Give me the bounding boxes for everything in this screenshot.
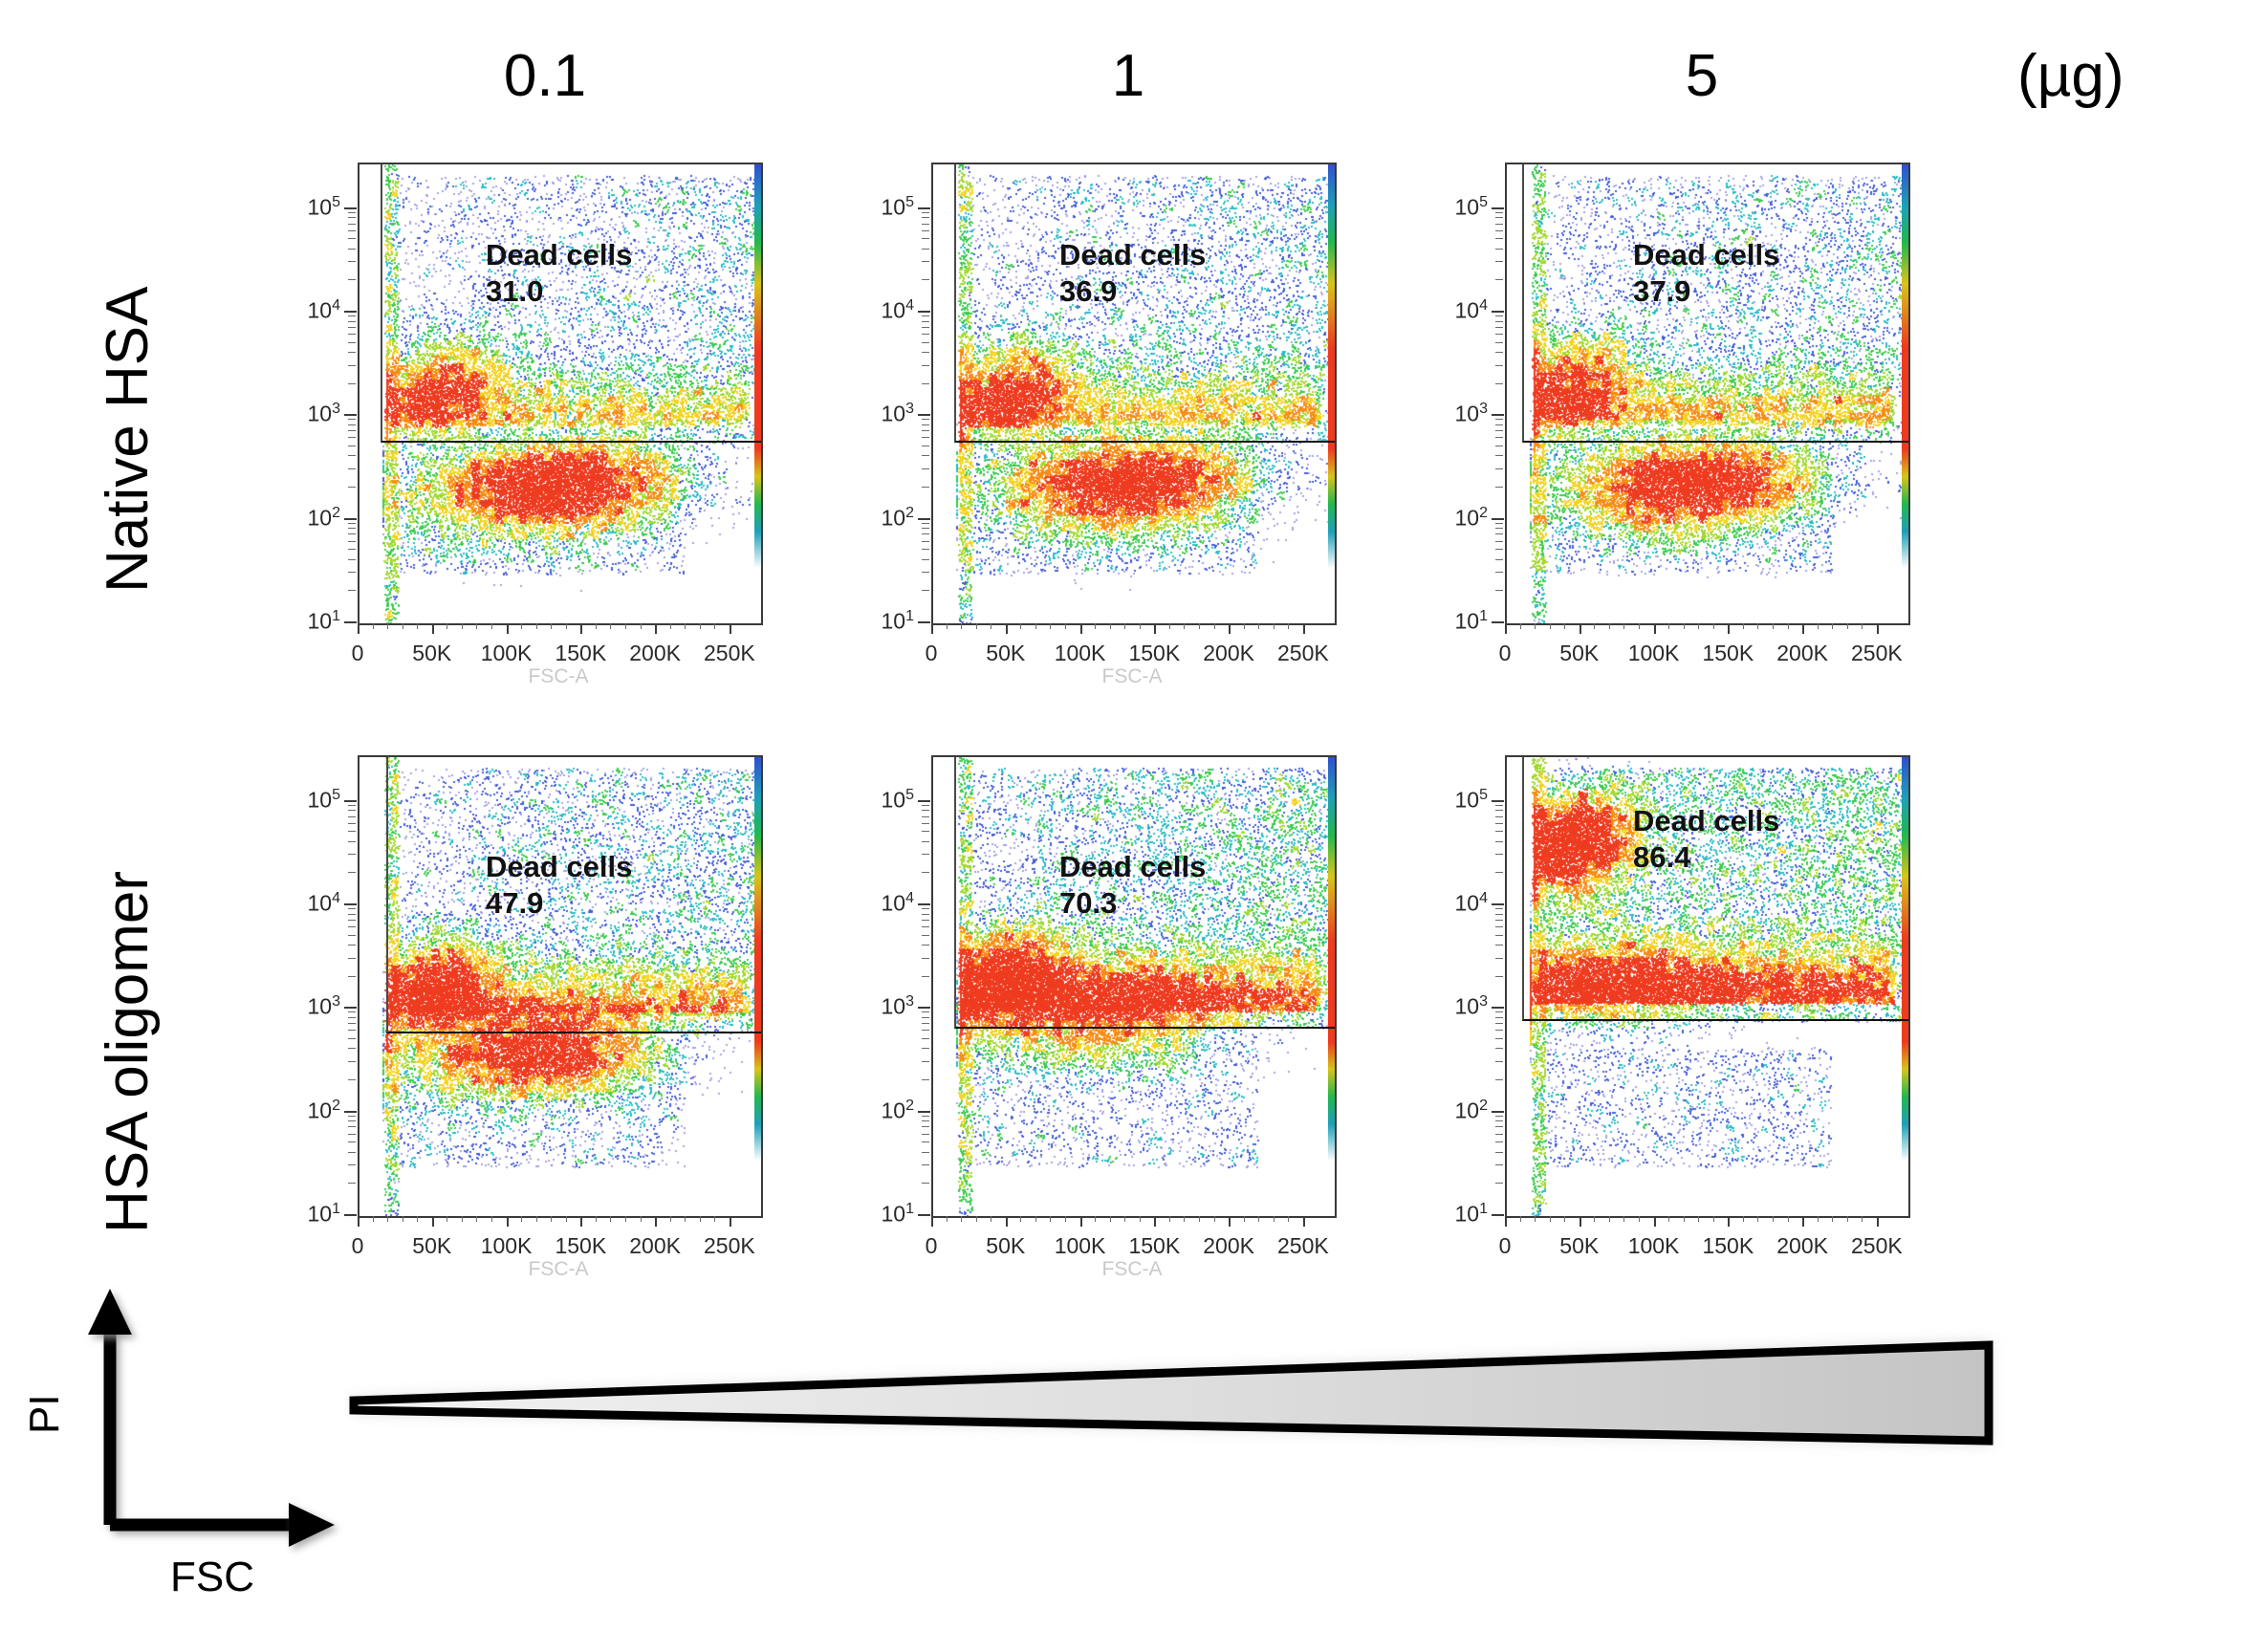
y-tick-minor (348, 1048, 356, 1049)
saturated-edge-strip (1328, 164, 1335, 623)
y-tick-minor (1495, 1164, 1503, 1165)
y-tick-label: 101 (1455, 609, 1489, 633)
gate-annotation: Dead cells36.9 (1059, 237, 1206, 310)
x-tick-minor (714, 623, 715, 629)
x-tick-minor (1110, 1216, 1111, 1222)
y-tick-minor (348, 352, 356, 353)
x-tick-minor (1550, 1216, 1551, 1222)
gate-annotation: Dead cells70.3 (1059, 849, 1206, 922)
row-label-hsa-oligomer: HSA oligomer (94, 871, 162, 1233)
y-tick-minor (1495, 365, 1503, 366)
dot-plot-panel: 105104103102101Dead cells86.4050K100K150… (1425, 755, 1941, 1291)
y-tick-minor (922, 914, 929, 915)
y-tick-minor (1495, 872, 1503, 873)
x-tick-minor (1050, 1216, 1051, 1222)
plot-frame: Dead cells36.9 (931, 163, 1337, 625)
y-tick-minor (1495, 528, 1503, 529)
x-tick-minor (387, 623, 388, 629)
saturated-edge-strip (754, 164, 761, 623)
x-tick-mark (1303, 623, 1305, 634)
y-tick-minor (922, 468, 929, 469)
x-tick-minor (417, 623, 418, 629)
y-tick-minor (922, 1030, 929, 1031)
y-tick-label: 103 (882, 402, 915, 425)
x-tick-mark (1006, 1216, 1008, 1227)
x-tick-label: 200K (1776, 1233, 1828, 1259)
y-axis: 105104103102101 (851, 755, 918, 1214)
x-tick-minor (1757, 623, 1758, 629)
x-tick-minor (625, 1216, 626, 1222)
x-tick-mark (1654, 623, 1656, 634)
x-tick-mark (1154, 1216, 1156, 1227)
y-tick-minor (922, 1079, 929, 1080)
y-tick-minor (1495, 419, 1503, 420)
y-axis: 105104103102101 (1425, 755, 1492, 1214)
y-tick-minor (1495, 572, 1503, 573)
y-tick-minor (348, 383, 356, 384)
y-tick-minor (922, 945, 929, 946)
y-tick-label: 101 (882, 1202, 915, 1226)
y-tick-label: 103 (1455, 994, 1489, 1018)
y-tick-minor (348, 572, 356, 573)
x-tick-label: 0 (926, 641, 938, 666)
fsc-axis-label: FSC (170, 1554, 254, 1601)
y-tick-minor (922, 528, 929, 529)
y-tick-minor (922, 533, 929, 534)
y-tick-minor (1495, 1017, 1503, 1018)
x-tick-mark (507, 1216, 509, 1227)
x-axis-title-faint: FSC-A (529, 1258, 589, 1281)
y-tick-minor (922, 279, 929, 280)
x-tick-mark (507, 623, 509, 634)
x-tick-label: 250K (1851, 1233, 1903, 1259)
y-tick-minor (922, 1017, 929, 1018)
y-tick-label: 102 (1455, 1098, 1489, 1122)
y-tick-minor (348, 1120, 356, 1121)
y-tick-mark (344, 1111, 357, 1113)
y-tick-minor (1495, 590, 1503, 591)
x-tick-minor (961, 1216, 962, 1222)
x-tick-minor (596, 623, 597, 629)
y-tick-minor (1495, 212, 1503, 213)
y-tick-minor (1495, 831, 1503, 832)
y-tick-minor (1495, 541, 1503, 542)
x-tick-minor (1832, 1216, 1833, 1222)
y-tick-minor (1495, 455, 1503, 456)
y-tick-label: 105 (1455, 195, 1489, 219)
scatter-canvas (1507, 164, 1908, 623)
y-tick-minor (922, 854, 929, 855)
x-tick-minor (961, 623, 962, 629)
x-axis-title-faint: FSC-A (1102, 665, 1163, 688)
y-tick-minor (922, 224, 929, 225)
y-tick-minor (922, 1183, 929, 1184)
y-tick-minor (922, 383, 929, 384)
y-tick-minor (922, 590, 929, 591)
y-tick-minor (922, 487, 929, 488)
x-tick-label: 50K (412, 641, 451, 666)
x-axis: 050K100K150K200K250KFSC-A (931, 1216, 1333, 1283)
y-tick-minor (348, 446, 356, 446)
y-tick-minor (922, 327, 929, 328)
y-tick-minor (348, 327, 356, 328)
x-tick-label: 50K (986, 641, 1025, 666)
x-tick-label: 250K (704, 641, 755, 666)
y-tick-minor (348, 823, 356, 824)
y-tick-minor (922, 816, 929, 817)
x-tick-minor (1594, 623, 1595, 629)
y-axis: 105104103102101 (277, 163, 344, 621)
y-tick-minor (922, 230, 929, 231)
y-tick-minor (922, 523, 929, 524)
y-tick-label: 102 (308, 1098, 341, 1122)
x-tick-minor (1535, 623, 1536, 629)
x-tick-minor (1199, 623, 1200, 629)
x-tick-label: 0 (352, 1233, 364, 1259)
y-tick-minor (348, 430, 356, 431)
y-tick-mark (1492, 1214, 1504, 1216)
y-tick-label: 104 (1455, 298, 1489, 322)
gate-annotation-title: Dead cells (1059, 849, 1206, 885)
x-tick-minor (976, 1216, 977, 1222)
x-tick-label: 250K (1277, 641, 1329, 666)
y-tick-minor (1495, 1030, 1503, 1031)
x-tick-minor (1818, 623, 1819, 629)
x-tick-minor (641, 1216, 642, 1222)
y-tick-mark (918, 903, 930, 905)
x-axis: 050K100K150K200K250KFSC-A (358, 623, 759, 690)
x-tick-minor (387, 1216, 388, 1222)
y-tick-minor (1495, 217, 1503, 218)
gate-annotation-percent: 47.9 (486, 885, 632, 922)
y-tick-minor (922, 1134, 929, 1135)
x-tick-label: 0 (926, 1233, 938, 1259)
y-tick-label: 103 (308, 402, 341, 425)
y-tick-minor (348, 528, 356, 529)
y-tick-mark (344, 903, 357, 905)
x-tick-label: 200K (629, 641, 681, 666)
x-tick-minor (1288, 623, 1289, 629)
y-tick-minor (348, 1116, 356, 1117)
plot-frame: Dead cells86.4 (1505, 755, 1910, 1218)
x-tick-minor (1258, 623, 1259, 629)
x-tick-mark (730, 1216, 731, 1227)
y-tick-minor (1495, 1023, 1503, 1024)
y-tick-mark (1492, 800, 1504, 802)
y-tick-minor (348, 334, 356, 335)
y-tick-minor (922, 437, 929, 438)
y-tick-minor (1495, 238, 1503, 239)
x-tick-label: 100K (1628, 641, 1680, 666)
x-tick-mark (1877, 623, 1879, 634)
y-tick-minor (1495, 315, 1503, 316)
x-tick-minor (1743, 623, 1744, 629)
x-tick-minor (1832, 623, 1833, 629)
x-tick-minor (1140, 1216, 1141, 1222)
y-tick-label: 102 (308, 506, 341, 530)
y-tick-minor (348, 958, 356, 959)
x-tick-minor (1124, 623, 1125, 629)
x-tick-minor (1169, 1216, 1170, 1222)
x-tick-mark (1505, 623, 1507, 634)
x-tick-mark (655, 1216, 657, 1227)
y-tick-minor (1495, 559, 1503, 560)
x-tick-minor (1713, 1216, 1714, 1222)
y-tick-minor (1495, 805, 1503, 806)
x-tick-minor (1788, 623, 1789, 629)
y-tick-minor (348, 230, 356, 231)
y-tick-label: 104 (308, 891, 341, 915)
x-tick-minor (1773, 623, 1774, 629)
y-tick-minor (1495, 468, 1503, 469)
gate-annotation-title: Dead cells (1633, 803, 1779, 839)
x-tick-minor (1564, 1216, 1565, 1222)
y-tick-minor (348, 533, 356, 534)
dot-plot-panel: 105104103102101Dead cells37.9050K100K150… (1425, 163, 1941, 698)
y-tick-minor (1495, 823, 1503, 824)
x-tick-minor (947, 623, 948, 629)
x-tick-mark (655, 623, 657, 634)
y-tick-minor (922, 572, 929, 573)
y-tick-minor (1495, 383, 1503, 384)
y-tick-minor (348, 841, 356, 842)
y-tick-minor (1495, 1120, 1503, 1121)
x-tick-label: 100K (1055, 641, 1106, 666)
x-tick-mark (1728, 1216, 1730, 1227)
y-tick-label: 104 (882, 891, 915, 915)
y-tick-mark (344, 311, 357, 313)
x-tick-minor (610, 1216, 611, 1222)
y-tick-label: 102 (882, 506, 915, 530)
x-tick-minor (1609, 623, 1610, 629)
y-tick-minor (1495, 249, 1503, 250)
y-tick-minor (348, 455, 356, 456)
y-tick-minor (1495, 342, 1503, 343)
x-axis: 050K100K150K200K250KFSC-A (931, 623, 1333, 690)
saturated-edge-strip (1328, 757, 1335, 1216)
y-tick-minor (348, 342, 356, 343)
x-tick-minor (1713, 623, 1714, 629)
y-tick-minor (348, 945, 356, 946)
scatter-canvas (933, 164, 1335, 623)
y-tick-minor (922, 1116, 929, 1117)
y-tick-minor (1495, 816, 1503, 817)
y-tick-minor (348, 487, 356, 488)
x-tick-minor (551, 623, 552, 629)
y-tick-label: 105 (882, 788, 915, 812)
y-tick-minor (922, 1038, 929, 1039)
y-tick-minor (922, 1023, 929, 1024)
y-tick-minor (1495, 224, 1503, 225)
x-tick-label: 0 (352, 641, 364, 666)
y-tick-minor (348, 549, 356, 550)
y-tick-minor (348, 523, 356, 524)
x-tick-mark (432, 623, 434, 634)
x-tick-minor (1169, 623, 1170, 629)
y-tick-minor (922, 365, 929, 366)
y-tick-label: 102 (882, 1098, 915, 1122)
y-tick-minor (348, 1141, 356, 1142)
y-tick-minor (1495, 437, 1503, 438)
y-tick-minor (1495, 1061, 1503, 1062)
x-tick-minor (1184, 1216, 1185, 1222)
x-tick-minor (1110, 623, 1111, 629)
plot-frame: Dead cells47.9 (358, 755, 763, 1218)
y-tick-mark (918, 800, 930, 802)
x-tick-mark (1080, 623, 1082, 634)
x-tick-minor (1214, 1216, 1215, 1222)
y-tick-label: 105 (1455, 788, 1489, 812)
y-tick-mark (1492, 414, 1504, 416)
y-tick-mark (1492, 903, 1504, 905)
x-tick-minor (1698, 623, 1699, 629)
y-tick-minor (1495, 908, 1503, 909)
y-tick-minor (348, 1183, 356, 1184)
y-tick-minor (922, 321, 929, 322)
y-tick-minor (922, 976, 929, 977)
x-tick-minor (1140, 623, 1141, 629)
gate-annotation-percent: 70.3 (1059, 885, 1206, 922)
y-tick-mark (1492, 621, 1504, 623)
y-tick-mark (344, 621, 357, 623)
y-tick-minor (922, 1120, 929, 1121)
y-tick-minor (348, 805, 356, 806)
x-tick-minor (1050, 623, 1051, 629)
y-tick-minor (922, 805, 929, 806)
y-tick-minor (1495, 1011, 1503, 1012)
x-tick-minor (536, 1216, 537, 1222)
x-tick-minor (1773, 1216, 1774, 1222)
y-tick-label: 101 (308, 609, 341, 633)
y-tick-minor (348, 872, 356, 873)
y-tick-minor (348, 1079, 356, 1080)
x-tick-minor (700, 623, 701, 629)
y-tick-minor (922, 935, 929, 936)
y-tick-minor (348, 854, 356, 855)
x-tick-label: 100K (1628, 1233, 1680, 1259)
y-tick-minor (1495, 446, 1503, 446)
y-tick-minor (348, 926, 356, 927)
y-tick-minor (1495, 1048, 1503, 1049)
y-tick-minor (348, 468, 356, 469)
y-tick-minor (922, 334, 929, 335)
x-tick-label: 250K (1277, 1233, 1329, 1259)
x-tick-label: 250K (1851, 641, 1903, 666)
y-tick-minor (1495, 1134, 1503, 1135)
y-tick-minor (348, 365, 356, 366)
y-tick-label: 103 (1455, 402, 1489, 425)
y-tick-minor (922, 908, 929, 909)
y-tick-minor (1495, 926, 1503, 927)
x-tick-minor (1199, 1216, 1200, 1222)
gate-annotation-percent: 36.9 (1059, 273, 1206, 310)
y-tick-minor (922, 212, 929, 213)
x-tick-minor (403, 1216, 403, 1222)
x-tick-minor (1520, 1216, 1521, 1222)
x-tick-minor (610, 623, 611, 629)
dot-plot-panel: 105104103102101Dead cells36.9050K100K150… (851, 163, 1367, 698)
y-tick-minor (922, 920, 929, 921)
scatter-canvas (933, 757, 1335, 1216)
y-tick-minor (348, 1152, 356, 1153)
y-tick-minor (1495, 920, 1503, 921)
y-tick-minor (348, 261, 356, 262)
gate-annotation-title: Dead cells (486, 849, 632, 885)
plot-frame: Dead cells70.3 (931, 755, 1337, 1218)
x-tick-mark (358, 623, 360, 634)
y-tick-label: 104 (308, 298, 341, 322)
x-tick-label: 50K (1559, 641, 1599, 666)
x-tick-minor (1788, 1216, 1789, 1222)
x-tick-label: 200K (629, 1233, 681, 1259)
x-tick-minor (991, 623, 991, 629)
y-tick-minor (348, 249, 356, 250)
y-tick-minor (348, 559, 356, 560)
y-tick-minor (922, 1152, 929, 1153)
y-tick-minor (348, 816, 356, 817)
x-tick-minor (1535, 1216, 1536, 1222)
y-tick-minor (348, 1011, 356, 1012)
y-tick-minor (922, 958, 929, 959)
x-tick-label: 0 (1499, 1233, 1512, 1259)
x-tick-label: 50K (412, 1233, 451, 1259)
y-tick-minor (922, 549, 929, 550)
gate-annotation-percent: 37.9 (1633, 273, 1779, 310)
x-tick-minor (521, 1216, 522, 1222)
x-tick-minor (1274, 1216, 1275, 1222)
y-tick-mark (344, 1007, 357, 1009)
x-tick-label: 100K (481, 641, 533, 666)
y-tick-label: 102 (1455, 506, 1489, 530)
x-tick-minor (1020, 623, 1021, 629)
y-tick-label: 101 (308, 1202, 341, 1226)
y-tick-minor (922, 1061, 929, 1062)
y-tick-minor (348, 914, 356, 915)
x-tick-label: 50K (1559, 1233, 1599, 1259)
y-tick-minor (348, 976, 356, 977)
y-tick-mark (918, 1007, 930, 1009)
y-tick-minor (348, 419, 356, 420)
x-tick-minor (1095, 623, 1096, 629)
y-tick-minor (1495, 334, 1503, 335)
y-tick-minor (1495, 487, 1503, 488)
x-tick-minor (1668, 1216, 1669, 1222)
pi-axis-label: PI (21, 1394, 69, 1434)
x-tick-label: 150K (1128, 1233, 1180, 1259)
x-tick-minor (551, 1216, 552, 1222)
x-tick-minor (1623, 1216, 1624, 1222)
y-tick-minor (1495, 1183, 1503, 1184)
x-tick-minor (1609, 1216, 1610, 1222)
y-tick-mark (344, 1214, 357, 1216)
gate-annotation-percent: 31.0 (486, 273, 632, 310)
x-tick-minor (991, 1216, 991, 1222)
y-tick-minor (1495, 523, 1503, 524)
x-tick-minor (447, 1216, 447, 1222)
x-tick-minor (536, 623, 537, 629)
x-tick-mark (580, 623, 582, 634)
y-tick-minor (1495, 945, 1503, 946)
y-tick-minor (922, 430, 929, 431)
x-tick-label: 150K (1702, 1233, 1754, 1259)
x-tick-mark (1580, 623, 1581, 634)
dot-plot-panel: 105104103102101Dead cells31.0050K100K150… (277, 163, 794, 698)
y-tick-minor (922, 446, 929, 446)
x-tick-mark (931, 1216, 933, 1227)
y-tick-mark (918, 621, 930, 623)
x-tick-mark (1229, 1216, 1231, 1227)
x-tick-minor (1184, 623, 1185, 629)
